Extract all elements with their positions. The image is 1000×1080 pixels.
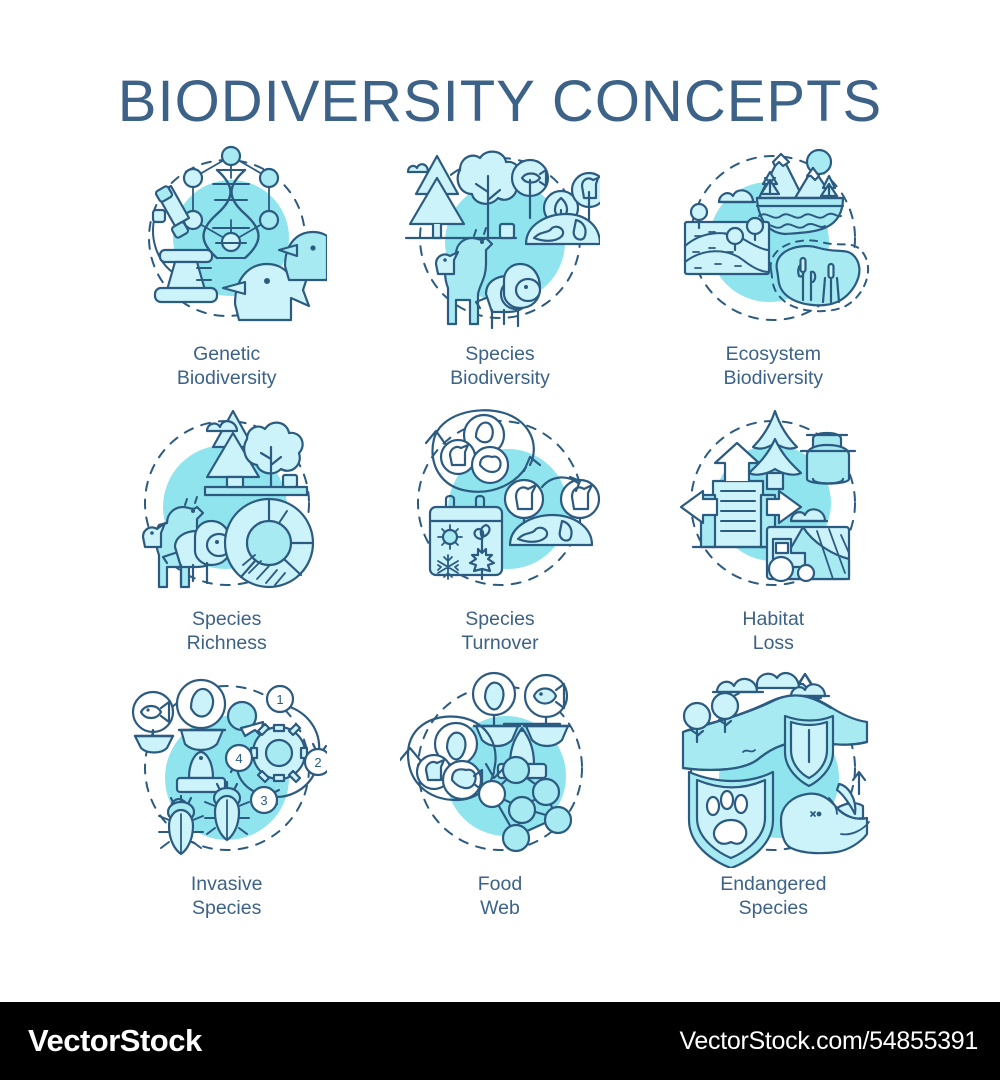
concept-label-habitat-loss: Habitat Loss (742, 607, 804, 655)
concept-label-species-biodiversity: Species Biodiversity (450, 342, 550, 390)
icon-grid: Genetic Biodiversity (90, 138, 910, 933)
concept-card-habitat-loss[interactable]: Habitat Loss (637, 403, 910, 668)
svg-text:4: 4 (235, 751, 242, 766)
concept-card-food-web[interactable]: Food Web (363, 668, 636, 933)
page-title: BIODIVERSITY CONCEPTS (0, 68, 1000, 135)
species-biodiversity-icon (400, 138, 600, 338)
concept-label-food-web: Food Web (478, 872, 522, 920)
concept-card-genetic-biodiversity[interactable]: Genetic Biodiversity (90, 138, 363, 403)
habitat-loss-icon (673, 403, 873, 603)
concept-label-genetic-biodiversity: Genetic Biodiversity (177, 342, 277, 390)
concept-label-endangered-species: Endangered Species (720, 872, 826, 920)
invasive-species-icon: 1 2 3 4 (127, 668, 327, 868)
concept-card-invasive-species[interactable]: 1 2 3 4 (90, 668, 363, 933)
concept-label-ecosystem-biodiversity: Ecosystem Biodiversity (723, 342, 823, 390)
food-web-icon (400, 668, 600, 868)
svg-text:2: 2 (314, 755, 321, 770)
vectorstock-url: VectorStock.com/54855391 (679, 1027, 978, 1056)
concept-card-endangered-species[interactable]: Endangered Species (637, 668, 910, 933)
concept-card-species-turnover[interactable]: Species Turnover (363, 403, 636, 668)
genetic-biodiversity-icon (127, 138, 327, 338)
concept-card-ecosystem-biodiversity[interactable]: Ecosystem Biodiversity (637, 138, 910, 403)
vectorstock-brand: VectorStock (28, 1023, 202, 1059)
concept-label-species-turnover: Species Turnover (461, 607, 538, 655)
watermark-footer: VectorStock VectorStock.com/54855391 (0, 1002, 1000, 1080)
endangered-species-icon (673, 668, 873, 868)
species-turnover-icon (400, 403, 600, 603)
concept-card-species-richness[interactable]: Species Richness (90, 403, 363, 668)
species-richness-icon (127, 403, 327, 603)
concept-label-species-richness: Species Richness (187, 607, 267, 655)
concept-card-species-biodiversity[interactable]: Species Biodiversity (363, 138, 636, 403)
svg-text:1: 1 (276, 692, 283, 707)
svg-text:3: 3 (260, 793, 267, 808)
ecosystem-biodiversity-icon (673, 138, 873, 338)
concept-label-invasive-species: Invasive Species (191, 872, 263, 920)
poster-canvas: BIODIVERSITY CONCEPTS (0, 0, 1000, 1080)
